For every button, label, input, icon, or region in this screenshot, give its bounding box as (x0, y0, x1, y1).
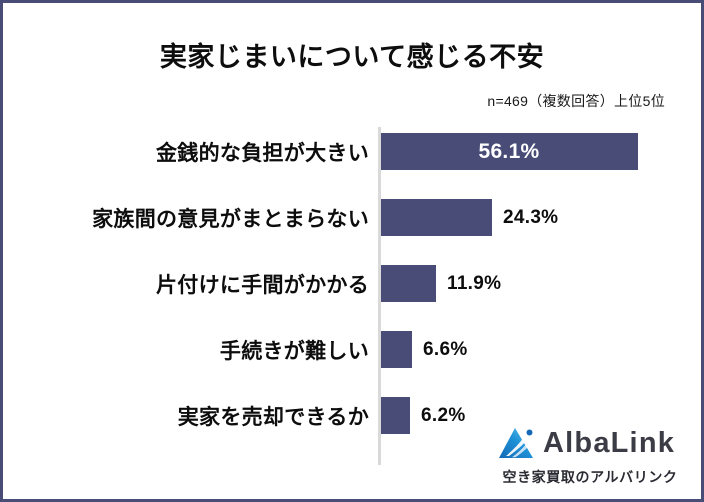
bar-row: 金銭的な負担が大きい 56.1% (3, 133, 704, 170)
bar-fill (381, 331, 412, 368)
bar-category-label: 手続きが難しい (3, 331, 369, 368)
bar-category-label-text: 手続きが難しい (220, 335, 369, 365)
bar-fill (381, 199, 492, 236)
plot-area: 金銭的な負担が大きい 56.1% 家族間の意見がまとまらない 24.3% 片付け… (3, 127, 704, 467)
chart-card: 実家じまいについて感じる不安 n=469（複数回答）上位5位 金銭的な負担が大き… (0, 0, 704, 502)
bar-fill (381, 397, 410, 434)
bar-value-label: 6.2% (421, 405, 466, 427)
bar-category-label-text: 金銭的な負担が大きい (156, 137, 369, 167)
bar-track: 11.9% (381, 265, 704, 302)
albalink-logo: AlbaLink 空き家買取のアルバリンク (497, 423, 683, 487)
bar-track: 6.6% (381, 331, 704, 368)
logo-tagline: 空き家買取のアルバリンク (497, 467, 683, 487)
bar-row: 片付けに手間がかかる 11.9% (3, 265, 704, 302)
bar-fill (381, 265, 436, 302)
bar-value-label: 56.1% (478, 140, 539, 164)
bar-category-label: 金銭的な負担が大きい (3, 133, 369, 170)
bar-category-label: 家族間の意見がまとまらない (3, 199, 369, 236)
bar-category-label-text: 家族間の意見がまとまらない (92, 203, 369, 233)
bar-row: 手続きが難しい 6.6% (3, 331, 704, 368)
logo-wordmark: AlbaLink (543, 429, 675, 458)
bar-category-label-text: 片付けに手間がかかる (156, 269, 369, 299)
bar-category-label: 片付けに手間がかかる (3, 265, 369, 302)
bar-value-label: 11.9% (447, 273, 501, 295)
bar-value-label: 6.6% (423, 339, 468, 361)
logo-row: AlbaLink (497, 423, 683, 463)
bar-track: 24.3% (381, 199, 704, 236)
chart-sample-size-note: n=469（複数回答）上位5位 (487, 91, 665, 111)
bar-track: 56.1% (381, 133, 704, 170)
bar-row: 家族間の意見がまとまらない 24.3% (3, 199, 704, 236)
bar-category-label: 実家を売却できるか (3, 397, 369, 434)
bar-category-label-text: 実家を売却できるか (178, 401, 369, 431)
bar-value-label: 24.3% (503, 207, 558, 229)
chart-title: 実家じまいについて感じる不安 (3, 43, 701, 73)
alba-link-triangle-icon (497, 425, 537, 461)
